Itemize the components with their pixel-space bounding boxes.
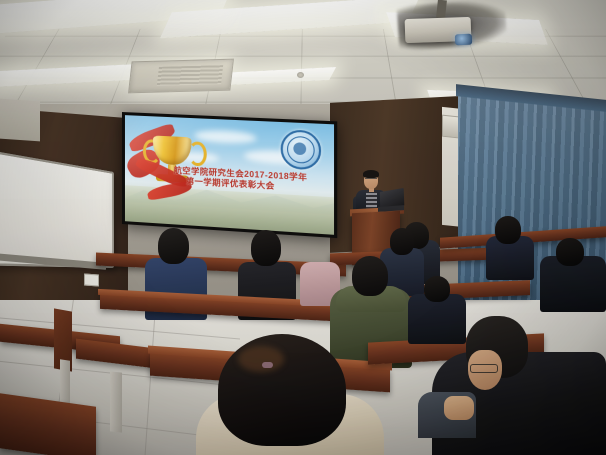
eyeglasses-icon	[470, 364, 498, 373]
ceiling-air-vent-grille	[157, 65, 223, 86]
projector-mount-arm	[436, 0, 447, 18]
student-head	[556, 238, 584, 266]
student-head	[390, 228, 414, 255]
projector-lens-icon	[455, 34, 472, 46]
hair-tie	[262, 362, 273, 368]
hair-highlight	[238, 346, 284, 372]
wall-sign	[84, 273, 99, 286]
projection-screen: 航空学院研究生会2017-2018学年 第一学期评优表彰大会	[122, 112, 337, 238]
student-head	[495, 216, 521, 244]
university-seal-emblem	[281, 130, 321, 171]
wall-corner-left	[0, 99, 40, 142]
student-head	[352, 256, 388, 296]
lecture-hall-photo: 航空学院研究生会2017-2018学年 第一学期评优表彰大会	[0, 0, 606, 455]
student-hand	[444, 396, 474, 420]
smoke-detector-icon	[297, 72, 304, 78]
student-head	[424, 276, 450, 302]
presenter-hair	[363, 170, 379, 178]
eyeglasses-icon	[365, 178, 377, 182]
bench-leg	[60, 359, 70, 404]
bench-leg	[110, 371, 122, 432]
projected-slide: 航空学院研究生会2017-2018学年 第一学期评优表彰大会	[125, 115, 334, 235]
student-head	[158, 228, 189, 264]
student-head	[251, 230, 281, 266]
student-hair	[218, 334, 346, 446]
